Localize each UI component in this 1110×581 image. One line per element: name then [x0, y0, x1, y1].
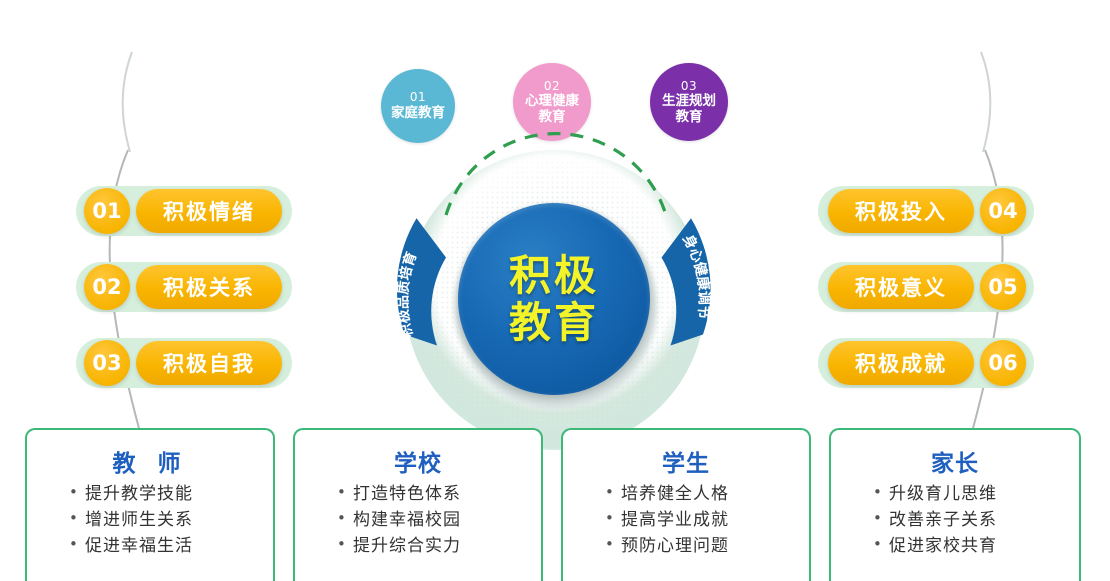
- top-circle-01[interactable]: 01 家庭教育: [381, 69, 455, 143]
- right-number-05: 05: [980, 264, 1026, 310]
- top-circle-02-label-line1: 心理健康: [525, 94, 579, 110]
- center-core[interactable]: 积极 教育: [458, 203, 650, 395]
- right-number-06: 06: [980, 340, 1026, 386]
- bottom-box-parent-list: 升级育儿思维 改善亲子关系 促进家校共育: [831, 482, 1079, 559]
- bottom-box-student[interactable]: 学生 培养健全人格 提高学业成就 预防心理问题: [561, 428, 811, 581]
- bottom-box-school-title: 学校: [295, 444, 541, 478]
- top-circle-01-label: 家庭教育: [391, 106, 445, 122]
- list-item: 提升综合实力: [353, 534, 541, 560]
- center-title-line1: 积极: [509, 252, 599, 299]
- left-row-03[interactable]: 03 积极自我: [76, 338, 292, 388]
- left-pill-01[interactable]: 积极情绪: [136, 189, 282, 233]
- bottom-box-parent-title: 家长: [831, 444, 1079, 478]
- top-circle-02[interactable]: 02 心理健康 教育: [513, 63, 591, 141]
- left-connector-top: [123, 52, 132, 152]
- left-pill-02[interactable]: 积极关系: [136, 265, 282, 309]
- bottom-box-teacher-list: 提升教学技能 增进师生关系 促进幸福生活: [27, 482, 273, 559]
- left-number-03: 03: [84, 340, 130, 386]
- right-row-05[interactable]: 积极意义 05: [818, 262, 1034, 312]
- right-row-04[interactable]: 积极投入 04: [818, 186, 1034, 236]
- right-row-06[interactable]: 积极成就 06: [818, 338, 1034, 388]
- list-item: 促进家校共育: [889, 534, 1079, 560]
- list-item: 构建幸福校园: [353, 508, 541, 534]
- right-pill-06[interactable]: 积极成就: [828, 341, 974, 385]
- top-circle-01-number: 01: [410, 90, 426, 104]
- list-item: 提高学业成就: [621, 508, 809, 534]
- top-circle-03-label-line1: 生涯规划: [662, 94, 716, 110]
- list-item: 促进幸福生活: [85, 534, 273, 560]
- top-circle-03-number: 03: [681, 79, 697, 93]
- right-number-04: 04: [980, 188, 1026, 234]
- infographic-canvas: 01 家庭教育 02 心理健康 教育 03 生涯规划 教育 积极 教育 积极品质…: [0, 0, 1110, 581]
- list-item: 升级育儿思维: [889, 482, 1079, 508]
- bottom-box-parent[interactable]: 家长 升级育儿思维 改善亲子关系 促进家校共育: [829, 428, 1081, 581]
- left-row-01[interactable]: 01 积极情绪: [76, 186, 292, 236]
- bottom-box-school[interactable]: 学校 打造特色体系 构建幸福校园 提升综合实力: [293, 428, 543, 581]
- left-number-01: 01: [84, 188, 130, 234]
- list-item: 培养健全人格: [621, 482, 809, 508]
- list-item: 提升教学技能: [85, 482, 273, 508]
- list-item: 打造特色体系: [353, 482, 541, 508]
- list-item: 预防心理问题: [621, 534, 809, 560]
- list-item: 改善亲子关系: [889, 508, 1079, 534]
- top-circle-03-label-line2: 教育: [676, 110, 703, 126]
- list-item: 增进师生关系: [85, 508, 273, 534]
- bottom-box-student-list: 培养健全人格 提高学业成就 预防心理问题: [563, 482, 809, 559]
- top-circle-03[interactable]: 03 生涯规划 教育: [650, 63, 728, 141]
- bottom-box-school-list: 打造特色体系 构建幸福校园 提升综合实力: [295, 482, 541, 559]
- left-pill-03[interactable]: 积极自我: [136, 341, 282, 385]
- center-title-line2: 教育: [509, 299, 599, 346]
- bottom-box-teacher[interactable]: 教 师 提升教学技能 增进师生关系 促进幸福生活: [25, 428, 275, 581]
- top-circle-02-label-line2: 教育: [539, 110, 566, 126]
- left-row-02[interactable]: 02 积极关系: [76, 262, 292, 312]
- left-number-02: 02: [84, 264, 130, 310]
- bottom-box-teacher-title: 教 师: [27, 444, 273, 478]
- right-connector-top: [981, 52, 990, 152]
- right-pill-05[interactable]: 积极意义: [828, 265, 974, 309]
- bottom-box-student-title: 学生: [563, 444, 809, 478]
- top-circle-02-number: 02: [544, 79, 560, 93]
- right-pill-04[interactable]: 积极投入: [828, 189, 974, 233]
